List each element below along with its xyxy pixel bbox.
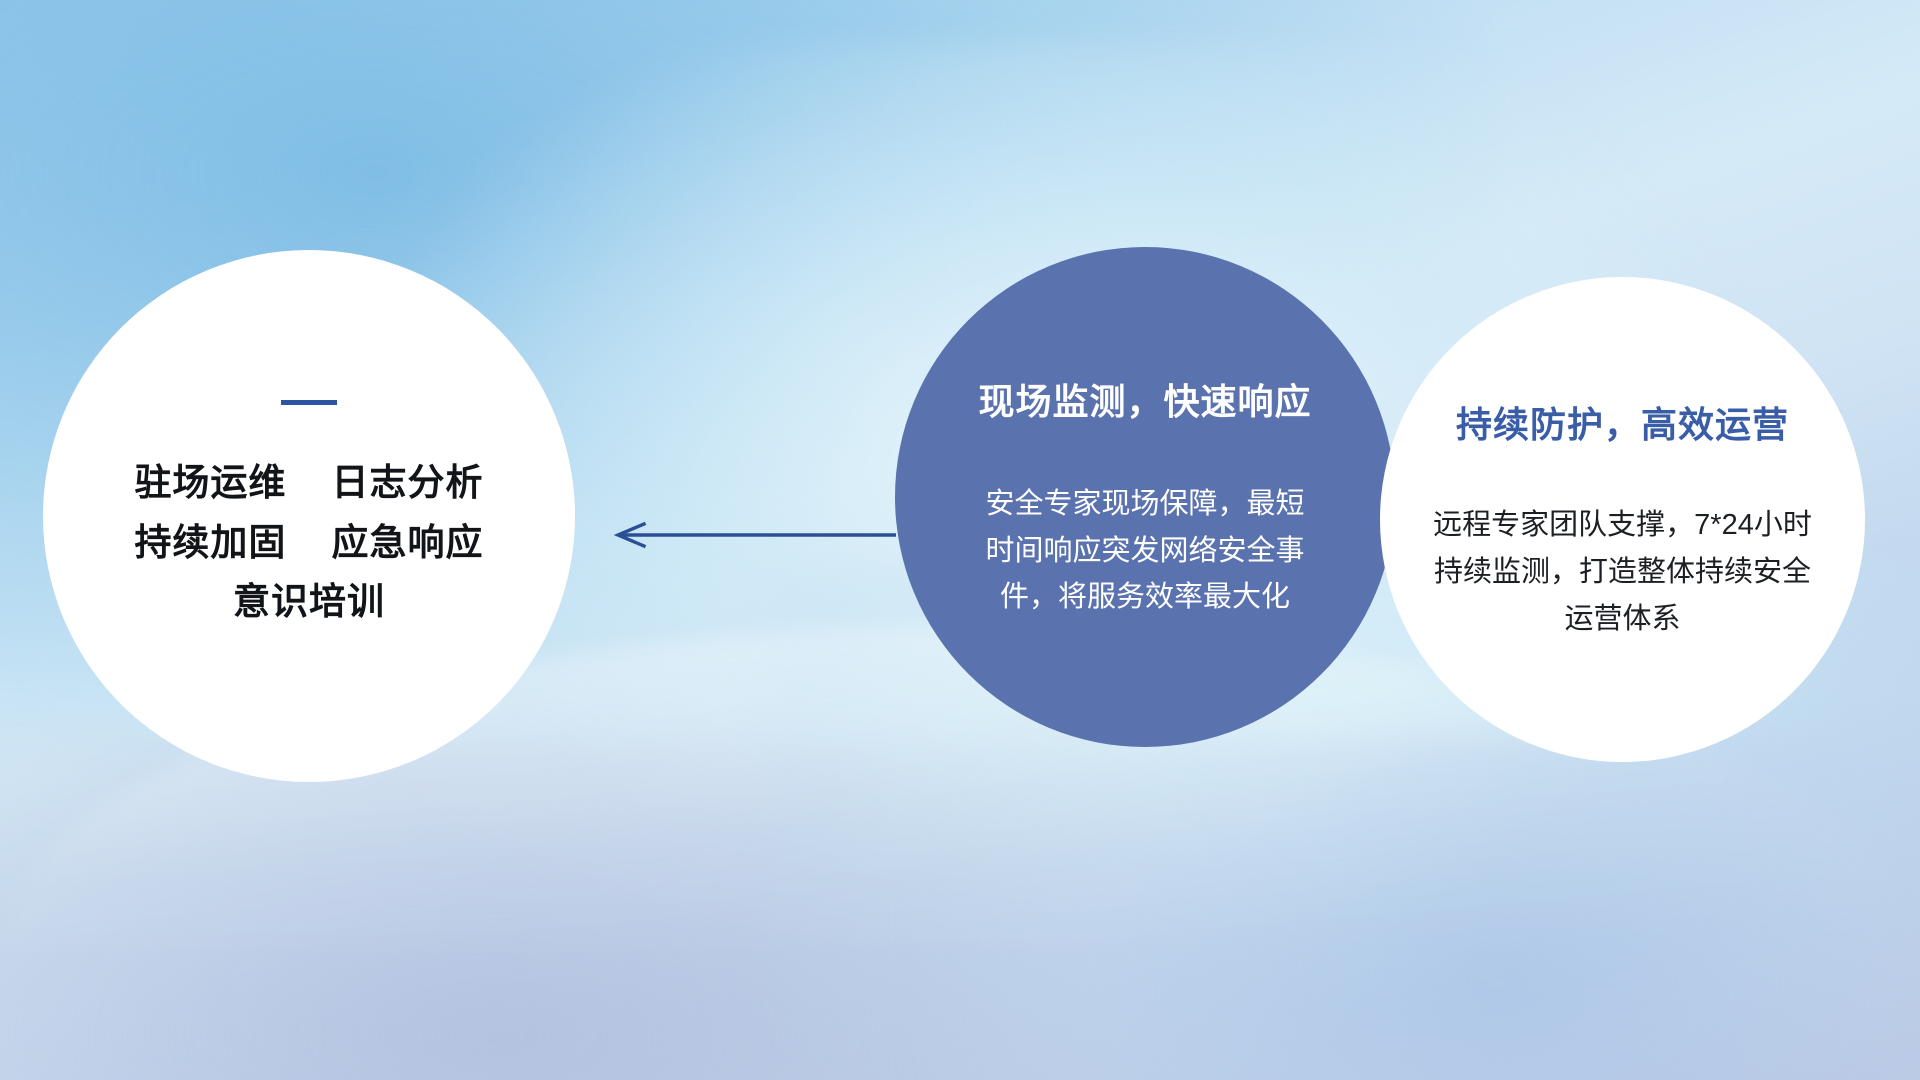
left-keyword-row-1: 驻场运维 日志分析 <box>134 453 483 513</box>
middle-service-circle[interactable]: 现场监测，快速响应 安全专家现场保障，最短时间响应突发网络安全事件，将服务效率最… <box>895 247 1395 747</box>
middle-circle-body: 安全专家现场保障，最短时间响应突发网络安全事件，将服务效率最大化 <box>985 481 1305 622</box>
left-keyword-row-3: 意识培训 <box>134 572 483 632</box>
left-keyword-row-2: 持续加固 应急响应 <box>134 513 483 573</box>
slide-canvas: 驻场运维 日志分析 持续加固 应急响应 意识培训 现场监测，快速响应 安全专家现… <box>0 0 1920 1080</box>
right-service-circle[interactable]: 持续防护，高效运营 远程专家团队支撑，7*24小时持续监测，打造整体持续安全运营… <box>1380 277 1865 762</box>
left-keyword-list: 驻场运维 日志分析 持续加固 应急响应 意识培训 <box>134 453 483 633</box>
right-circle-title: 持续防护，高效运营 <box>1456 396 1789 448</box>
middle-circle-title: 现场监测，快速响应 <box>978 373 1311 425</box>
left-service-circle[interactable]: 驻场运维 日志分析 持续加固 应急响应 意识培训 <box>43 250 575 782</box>
divider-dash-icon <box>281 400 337 405</box>
flow-arrow-left <box>598 515 898 555</box>
right-circle-body: 远程专家团队支撑，7*24小时持续监测，打造整体持续安全运营体系 <box>1428 502 1818 643</box>
